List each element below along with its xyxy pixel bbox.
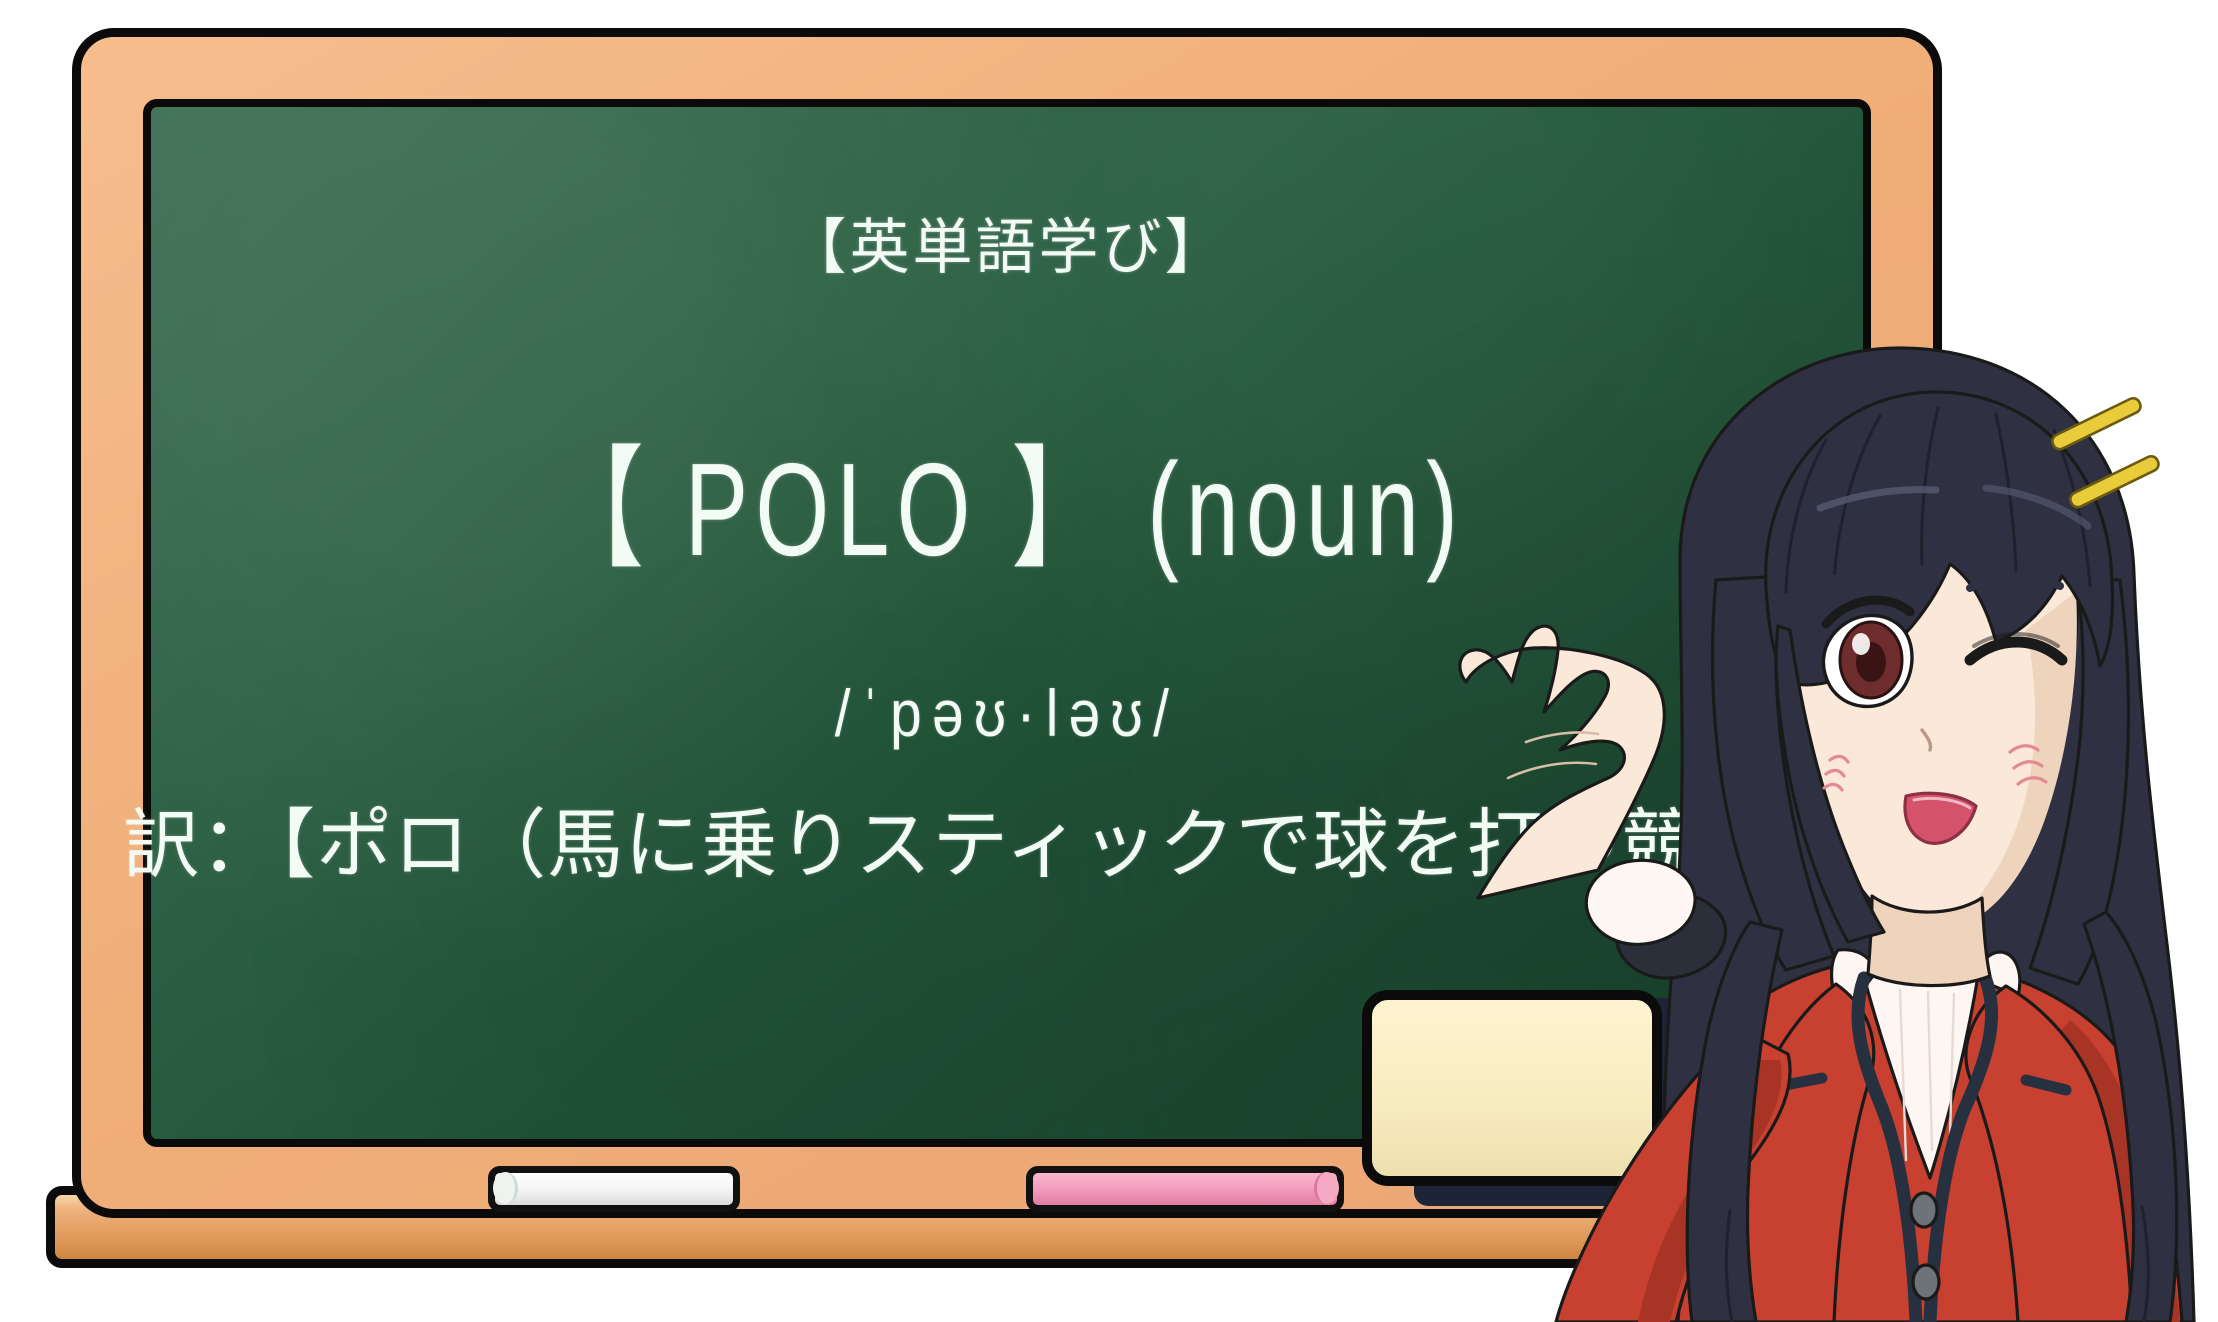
hairclip-upper [2050, 396, 2143, 452]
hair-strand-5 [2054, 430, 2090, 586]
shirt-fold-3 [1950, 994, 1954, 1136]
eraser-body [1362, 990, 1662, 1186]
blazer-button-bottom [1913, 1265, 1939, 1299]
hair-tail-right [2084, 912, 2177, 1322]
eraser[interactable] [1362, 990, 1734, 1210]
eyebrow-right [1970, 577, 2060, 588]
hair-tip-right [2142, 1206, 2148, 1322]
pronunciation-ipa: /ˈpəʊ·ləʊ/ [271, 675, 1743, 751]
chalkboard-scene: 【英単語学び】 【 POLO 】 (noun) /ˈpəʊ·ləʊ/ 訳：【ポロ… [0, 0, 2218, 1322]
japanese-translation: 訳：【ポロ（馬に乗りスティックで球を打つ競技）】 [0, 783, 2218, 893]
blazer-lapel-right [1966, 986, 2132, 1322]
hair-tip-left [1726, 1210, 1732, 1322]
hairclip-lower [2068, 454, 2161, 510]
eye-wink-right [1970, 634, 2062, 660]
blush-right [2010, 746, 2046, 784]
hair-strand-4 [1996, 414, 2016, 570]
white-chalk-icon[interactable] [488, 1166, 740, 1212]
pink-chalk-icon[interactable] [1026, 1166, 1344, 1212]
blazer-pocket-right [2026, 1080, 2066, 1090]
blazer-shadow [2058, 1020, 2180, 1322]
hair-gloss-2 [1986, 488, 2088, 526]
shirt-collar-right [1974, 952, 2020, 996]
hair-side-right [2030, 578, 2128, 984]
vocabulary-word: 【 POLO 】 (noun) [391, 403, 1624, 594]
lesson-title: 【英単語学び】 [151, 199, 1863, 286]
